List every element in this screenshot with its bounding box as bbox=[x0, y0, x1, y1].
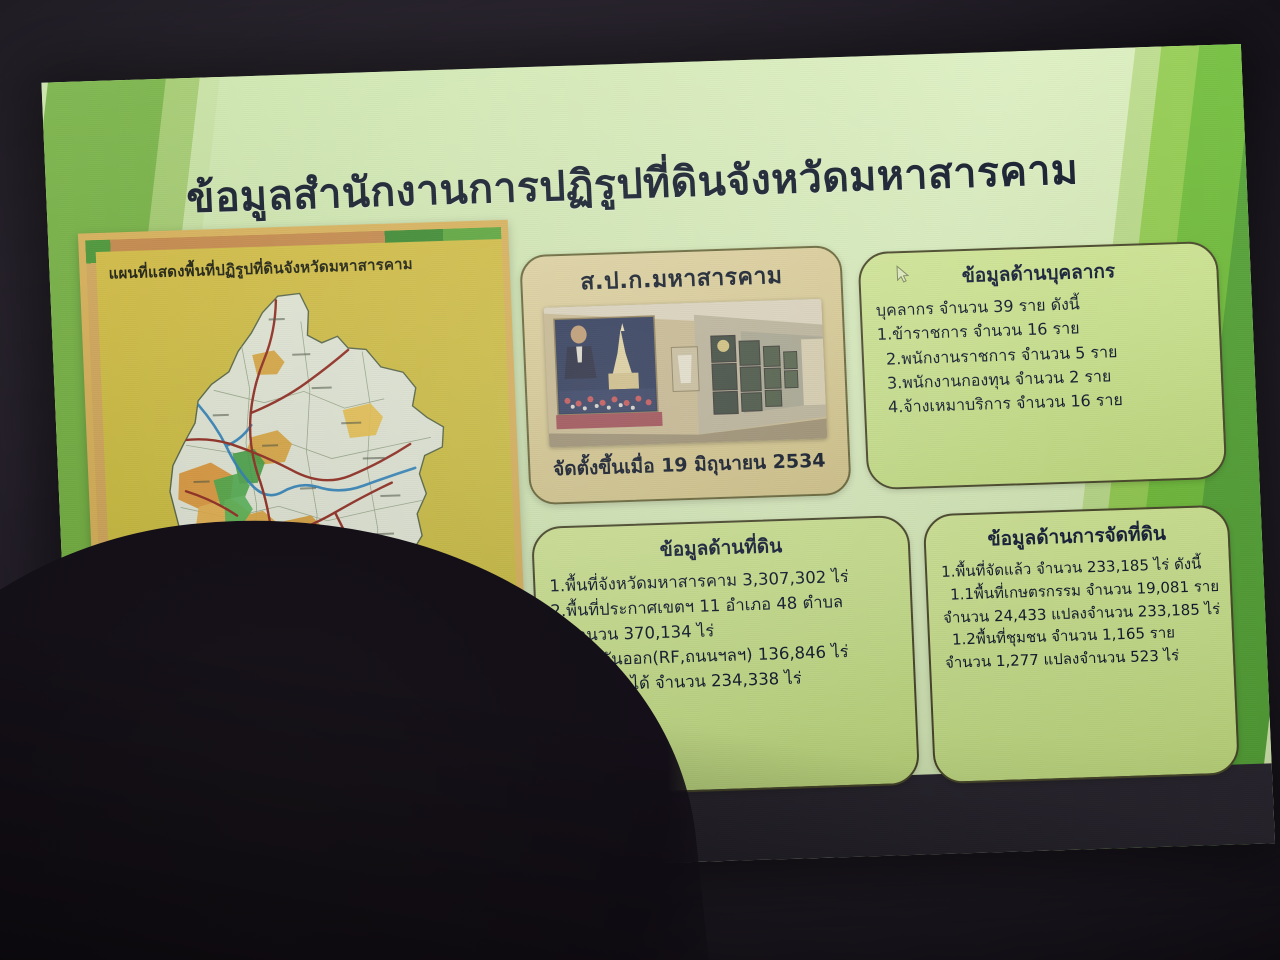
allocation-card-title: ข้อมูลด้านการจัดที่ดิน bbox=[939, 517, 1214, 556]
office-title: ส.ป.ก.มหาสารคาม bbox=[522, 256, 841, 302]
land-card-title: ข้อมูลด้านที่ดิน bbox=[547, 527, 894, 568]
mouse-cursor-icon bbox=[896, 265, 910, 283]
land-allocation-card: ข้อมูลด้านการจัดที่ดิน 1.พื้นที่จัดแล้ว … bbox=[923, 505, 1240, 785]
personnel-card-title: ข้อมูลด้านบุคลากร bbox=[874, 253, 1203, 294]
office-interior-photo bbox=[543, 299, 827, 448]
personnel-info-card: ข้อมูลด้านบุคลากร บุคลากร จำนวน 39 ราย ด… bbox=[857, 241, 1227, 490]
map-title: แผนที่แสดงพื้นที่ปฏิรูปที่ดินจังหวัดมหาส… bbox=[108, 249, 499, 286]
office-photo-card: ส.ป.ก.มหาสารคาม bbox=[519, 245, 852, 505]
projection-room: ข้อมูลสำนักงานการปฏิรูปที่ดินจังหวัดมหาส… bbox=[0, 0, 1280, 960]
map-border-top bbox=[85, 227, 501, 252]
office-caption: จัดตั้งขึ้นเมื่อ 19 มิถุนายน 2534 bbox=[530, 445, 849, 485]
